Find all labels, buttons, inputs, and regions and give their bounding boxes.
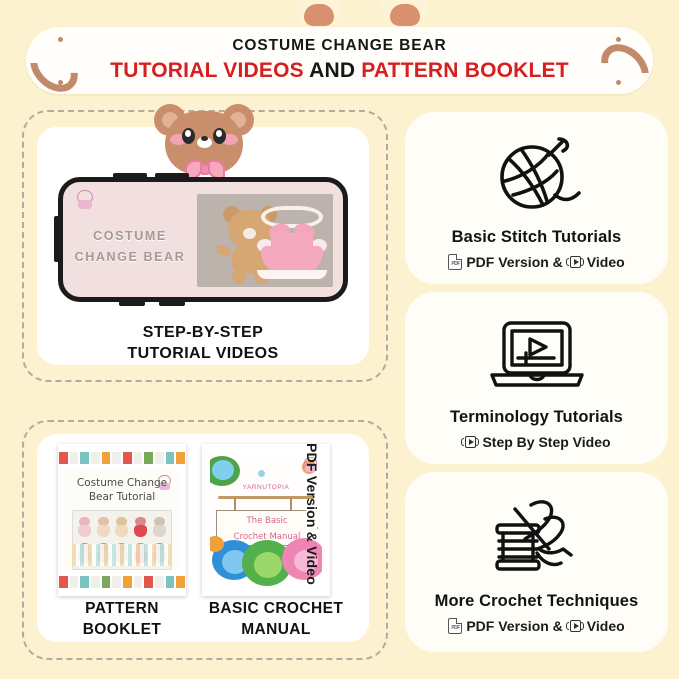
feature-card-terminology[interactable]: Terminology Tutorials Step By Step Video — [405, 292, 668, 464]
pdf-icon: PDF — [448, 618, 462, 634]
feature-title: More Crochet Techniques — [405, 592, 668, 611]
banner-and-text: AND — [304, 59, 361, 82]
booklet-pattern-band — [72, 544, 172, 566]
deco-circle-blue — [212, 460, 234, 480]
bear-mascot-icon — [152, 104, 256, 182]
banner-pattern-booklet-text: PATTERN BOOKLET — [361, 59, 569, 82]
banner-tutorial-videos-text: TUTORIAL VIDEOS — [110, 59, 304, 82]
infographic-stage: COSTUME CHANGE BEAR TUTORIAL VIDEOS AND … — [0, 0, 679, 679]
video-thumbnail[interactable] — [197, 194, 333, 287]
deco-circle-lightgreen — [254, 552, 282, 578]
video-icon — [567, 619, 583, 634]
feature-subtitle: PDF PDF Version & Video — [405, 618, 668, 634]
pdf-icon: PDF — [448, 254, 462, 270]
pattern-booklet-caption: PATTERN BOOKLET — [52, 598, 192, 640]
title-banner: COSTUME CHANGE BEAR TUTORIAL VIDEOS AND … — [26, 27, 653, 94]
pdf-video-vertical-badge: PDF Version & Video — [304, 443, 320, 597]
feature-card-more-techniques[interactable]: More Crochet Techniques PDF PDF Version … — [405, 472, 668, 652]
dress-photo-icon — [257, 233, 327, 279]
basic-crochet-manual-caption: BASIC CROCHET MANUAL — [196, 598, 356, 640]
deco-dot-blue — [258, 470, 265, 477]
tutorial-videos-caption: STEP-BY-STEP TUTORIAL VIDEOS — [37, 322, 369, 364]
spool-scissors-icon — [405, 492, 668, 578]
banner-ear-right-decoration — [382, 0, 428, 30]
laptop-video-icon — [405, 312, 668, 398]
video-icon — [567, 255, 583, 270]
booklet-stripes-top — [58, 452, 186, 464]
yarn-ball-icon — [405, 132, 668, 218]
banner-title-line1: COSTUME CHANGE BEAR — [26, 37, 653, 55]
feature-subtitle: Step By Step Video — [405, 434, 668, 450]
feature-card-basic-stitch[interactable]: Basic Stitch Tutorials PDF PDF Version &… — [405, 112, 668, 284]
booklet-title: Costume Change Bear Tutorial — [64, 476, 180, 504]
pattern-booklet-cover[interactable]: Costume Change Bear Tutorial — [58, 444, 186, 596]
feature-title: Terminology Tutorials — [405, 408, 668, 427]
feature-subtitle: PDF PDF Version & Video — [405, 254, 668, 270]
video-icon — [462, 435, 478, 450]
phone-screen-title: COSTUME CHANGE BEAR — [71, 226, 189, 268]
banner-ear-left-decoration — [296, 0, 342, 30]
booklet-stripes-bottom — [58, 576, 186, 588]
feature-title: Basic Stitch Tutorials — [405, 228, 668, 247]
phone-mockup: COSTUME CHANGE BEAR — [58, 177, 348, 302]
brand-bear-logo-icon — [73, 188, 97, 212]
banner-title-line2: TUTORIAL VIDEOS AND PATTERN BOOKLET — [26, 59, 653, 83]
